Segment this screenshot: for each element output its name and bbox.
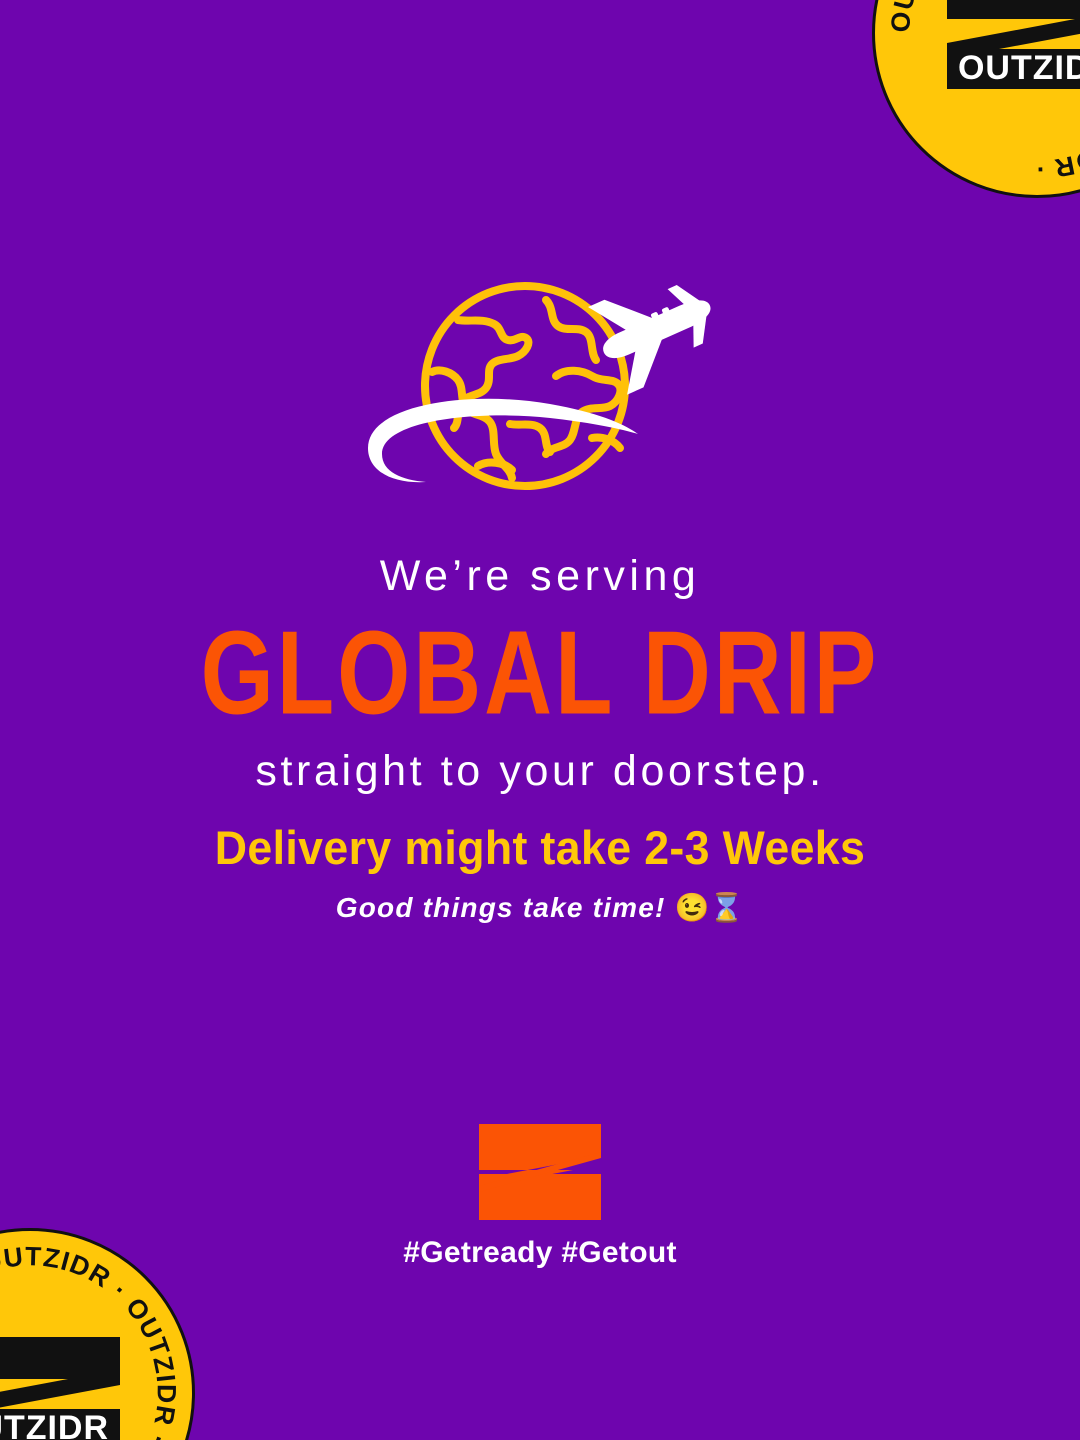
delivery-note-block: Delivery might take 2-3 Weeks Good thing… xyxy=(0,820,1080,924)
globe-with-airplane-illustration xyxy=(360,276,720,512)
globe-continents-icon xyxy=(432,300,620,478)
outzidr-badge-top-right: OUTZIDR · OUTZIDR · OUTZIDR · OUTZIDR · … xyxy=(872,0,1080,198)
badge-core-bottom-left: OUTZIDR xyxy=(0,1329,128,1440)
headline-subline: straight to your doorstep. xyxy=(0,747,1080,796)
z-monogram-icon xyxy=(479,1124,601,1220)
headline-main: GLOBAL DRIP xyxy=(11,613,1069,734)
badge-core-wordmark-top-right: OUTZIDR xyxy=(958,49,1080,87)
outzidr-badge-bottom-left: OUTZIDR · OUTZIDR · OUTZIDR · OUTZIDR · … xyxy=(0,1228,195,1440)
delivery-timeframe: Delivery might take 2-3 Weeks xyxy=(27,820,1053,875)
badge-core-wordmark-bottom-left: OUTZIDR xyxy=(0,1409,109,1440)
wink-hourglass-emoji: 😉⌛ xyxy=(675,892,745,923)
headline-block: We’re serving GLOBAL DRIP straight to yo… xyxy=(0,552,1080,797)
globe-airplane-icon xyxy=(360,276,720,512)
delivery-tagline-text: Good things take time! xyxy=(336,892,666,923)
promo-poster: OUTZIDR · OUTZIDR · OUTZIDR · OUTZIDR · … xyxy=(0,0,1080,1440)
headline-kicker: We’re serving xyxy=(0,552,1080,601)
badge-core-z-monogram-top-right: OUTZIDR xyxy=(939,0,1080,97)
delivery-tagline: Good things take time! 😉⌛ xyxy=(0,891,1080,924)
z-monogram-logo xyxy=(479,1124,601,1220)
globe-circle-icon xyxy=(425,286,625,486)
badge-core-z-monogram-bottom-left: OUTZIDR xyxy=(0,1329,128,1440)
badge-core-top-right: OUTZIDR xyxy=(939,0,1080,97)
